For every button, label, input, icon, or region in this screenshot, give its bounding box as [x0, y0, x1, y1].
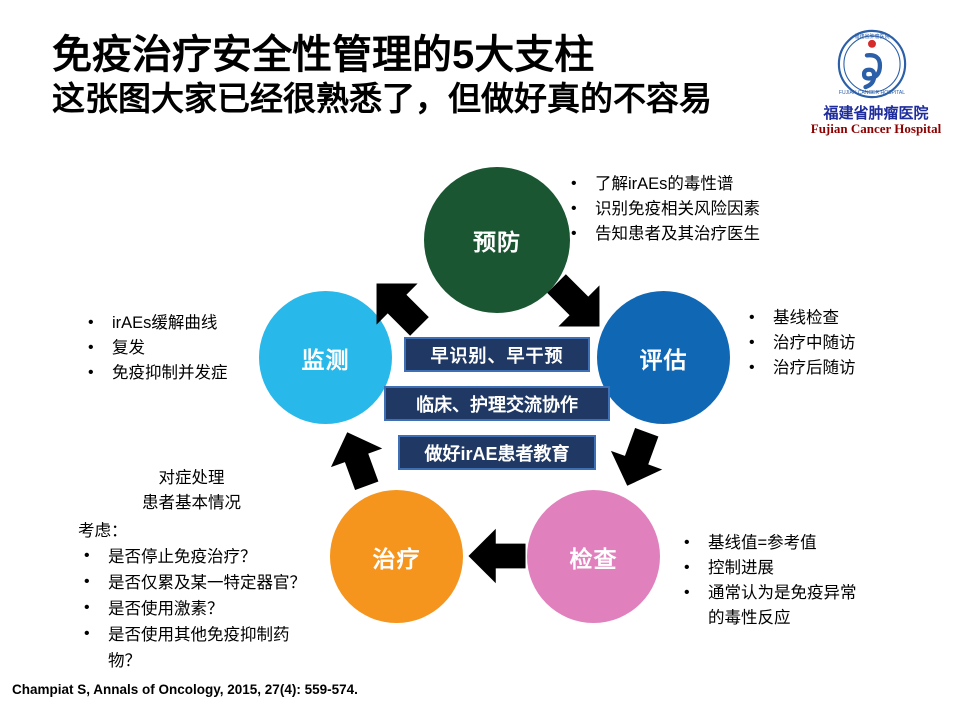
list-item: 复发: [82, 336, 228, 361]
hospital-logo: 福建省肿瘤医院 FUJIAN CANCER HOSPITAL 福建省肿瘤医院 F…: [818, 28, 950, 146]
arrow-treatment-to-monitoring: [326, 428, 388, 490]
annotation-treatment: 对症处理 患者基本情况 考虑： 是否停止免疫治疗？ 是否仅累及某一特定器官？ 是…: [78, 466, 328, 674]
list-item: 告知患者及其治疗医生: [565, 222, 760, 247]
list-item: 的毒性反应: [678, 606, 857, 631]
list-item: irAEs缓解曲线: [82, 311, 228, 336]
list-item: 物？: [78, 648, 328, 674]
center-banner-3: 做好irAE患者教育: [398, 435, 596, 470]
title-line-1: 免疫治疗安全性管理的5大支柱: [52, 34, 842, 76]
annotation-treatment-consider-label: 考虑：: [78, 518, 328, 544]
cycle-node-prevention-label: 预防: [473, 223, 521, 257]
list-item: 是否仅累及某一特定器官？: [78, 570, 328, 596]
cycle-node-monitoring-label: 监测: [302, 341, 350, 375]
annotation-examination: 基线值=参考值 控制进展 通常认为是免疫异常 的毒性反应: [678, 531, 857, 631]
hospital-name-cn: 福建省肿瘤医院: [796, 102, 956, 123]
list-item: 基线检查: [743, 306, 856, 331]
center-banner-1-label: 早识别、早干预: [431, 342, 564, 368]
arrow-examination-to-treatment: [466, 525, 528, 587]
list-item: 免疫抑制并发症: [82, 361, 228, 386]
page-title: 免疫治疗安全性管理的5大支柱 这张图大家已经很熟悉了，但做好真的不容易: [52, 34, 842, 118]
cycle-node-examination[interactable]: 检查: [527, 490, 660, 623]
svg-text:FUJIAN CANCER HOSPITAL: FUJIAN CANCER HOSPITAL: [839, 90, 905, 96]
arrow-prevention-to-assessment: [545, 272, 611, 338]
center-banner-2-label: 临床、护理交流协作: [416, 391, 578, 417]
cycle-node-examination-label: 检查: [570, 540, 618, 574]
list-item: 基线值=参考值: [678, 531, 857, 556]
list-item: 治疗后随访: [743, 356, 856, 381]
list-item: 通常认为是免疫异常: [678, 581, 857, 606]
title-line-2: 这张图大家已经很熟悉了，但做好真的不容易: [52, 80, 842, 118]
list-item: 了解irAEs的毒性谱: [565, 172, 760, 197]
list-item: 是否使用激素？: [78, 596, 328, 622]
annotation-prevention: 了解irAEs的毒性谱 识别免疫相关风险因素 告知患者及其治疗医生: [565, 172, 760, 247]
annotation-assessment: 基线检查 治疗中随访 治疗后随访: [743, 306, 856, 381]
annotation-treatment-heading-2: 患者基本情况: [84, 491, 299, 516]
arrow-assessment-to-examination: [606, 428, 668, 490]
citation: Champiat S, Annals of Oncology, 2015, 27…: [12, 682, 358, 697]
list-item: 控制进展: [678, 556, 857, 581]
cycle-node-treatment[interactable]: 治疗: [330, 490, 463, 623]
annotation-treatment-heading-1: 对症处理: [84, 466, 299, 491]
cycle-node-assessment-label: 评估: [640, 341, 688, 375]
svg-text:福建省肿瘤医院: 福建省肿瘤医院: [854, 33, 889, 40]
hospital-name-en: Fujian Cancer Hospital: [796, 121, 956, 137]
cycle-node-assessment[interactable]: 评估: [597, 291, 730, 424]
list-item: 治疗中随访: [743, 331, 856, 356]
center-banner-1: 早识别、早干预: [404, 337, 590, 372]
list-item: 识别免疫相关风险因素: [565, 197, 760, 222]
list-item: 是否停止免疫治疗？: [78, 544, 328, 570]
arrow-monitoring-to-prevention: [365, 272, 431, 338]
center-banner-3-label: 做好irAE患者教育: [424, 440, 569, 466]
slide-canvas: 免疫治疗安全性管理的5大支柱 这张图大家已经很熟悉了，但做好真的不容易 福建省肿…: [0, 0, 960, 720]
center-banner-2: 临床、护理交流协作: [384, 386, 610, 421]
cycle-node-treatment-label: 治疗: [373, 540, 421, 574]
hospital-seal-icon: 福建省肿瘤医院 FUJIAN CANCER HOSPITAL: [836, 28, 908, 100]
list-item: 是否使用其他免疫抑制药: [78, 622, 328, 648]
annotation-monitoring: irAEs缓解曲线 复发 免疫抑制并发症: [82, 311, 228, 386]
